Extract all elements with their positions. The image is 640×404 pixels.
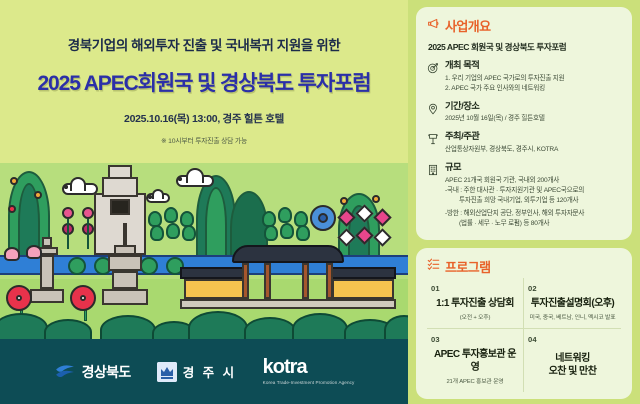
program-item-04: 04 네트워킹 오찬 및 만찬 (524, 329, 621, 392)
logo-gyeongsangbuk-do-text: 경상북도 (82, 362, 131, 382)
overview-card-header: 사업개요 (427, 16, 621, 35)
hanok-palace (180, 245, 396, 317)
purpose-line-2: 2. APEC 국가 주요 인사와의 네트워킹 (445, 84, 621, 94)
program-item-03-desc: 21개 APEC 홍보관 운영 (431, 376, 519, 385)
stone-pagoda-right-base (102, 289, 148, 305)
stone-pagoda-left-base (30, 289, 64, 303)
bush-1 (0, 313, 48, 339)
blue-chrysanthemum-center (318, 213, 328, 223)
lotus-flower-1 (4, 247, 20, 261)
stone-pagoda-right-top (114, 245, 136, 255)
program-item-01-title: 1:1 투자진출 상담회 (431, 298, 519, 311)
bush-6 (244, 317, 296, 339)
lotus-pad-1 (68, 257, 86, 275)
overview-row-host-body: 주최/주관 산업통상자원부, 경상북도, 경주시, KOTRA (445, 131, 621, 155)
logo-kotra-subtext: Korea Trade-Investment Promotion Agency (263, 380, 355, 387)
overview-row-period-lines: 2025년 10월 16일(목) / 경주 힐튼호텔 (445, 114, 621, 124)
logo-gyeongju-si-text: 경 주 시 (183, 362, 237, 381)
overview-row-scale-lines: APEC 21개국 회원국 기관, 국내외 200개사 -국내 : 주한 대사관… (445, 176, 621, 229)
hanok-right-wall (332, 279, 394, 299)
scale-line-1: APEC 21개국 회원국 기관, 국내외 200개사 (445, 176, 621, 186)
program-item-02-title: 투자진출설명회(오후) (528, 298, 617, 311)
banner-flag-icon (427, 131, 440, 155)
lotus-flower-2 (26, 245, 42, 259)
program-item-03: 03 APEC 투자홍보관 운영 21개 APEC 홍보관 운영 (427, 329, 524, 392)
program-item-01: 01 1:1 투자진출 상담회 (오전 + 오후) (427, 278, 524, 330)
hanok-right-roof (330, 267, 396, 279)
bush-7 (292, 313, 348, 339)
checklist-icon (427, 257, 440, 275)
pink-flower-1 (62, 207, 74, 219)
overview-title: 사업개요 (445, 16, 490, 35)
brick-pagoda-door (110, 199, 130, 215)
scale-line-5: (법률 · 세무 · 노무 로펌) 등 80개사 (445, 219, 621, 229)
hanok-pillar-1 (242, 263, 249, 299)
pink-flower-stem-2 (87, 219, 89, 249)
program-item-01-number: 01 (431, 284, 519, 293)
period-line-1: 2025년 10월 16일(목) / 경주 힐튼호텔 (445, 114, 621, 124)
stone-pagoda-right-mid (108, 255, 142, 271)
stone-pagoda-right-body (112, 271, 138, 289)
cloud-1 (62, 183, 98, 195)
program-item-04-title: 네트워킹 오찬 및 만찬 (528, 353, 617, 378)
stone-pagoda-right-spire (123, 223, 127, 245)
program-grid: 01 1:1 투자진출 상담회 (오전 + 오후) 02 투자진출설명회(오후)… (427, 278, 621, 393)
overview-row-host: 주최/주관 산업통상자원부, 경상북도, 경주시, KOTRA (427, 131, 621, 155)
program-item-01-desc: (오전 + 오후) (431, 312, 519, 321)
overview-row-purpose: 개최 목적 1. 우리 기업의 APEC 국가로의 투자진출 지원 2. APE… (427, 60, 621, 94)
overview-card: 사업개요 2025 APEC 회원국 및 경상북도 투자포럼 개최 목적 (416, 7, 632, 240)
scale-line-3: 투자진출 희망 국내기업, 외투기업 등 120개사 (445, 196, 621, 206)
hanok-stone-platform (180, 299, 396, 309)
hanok-left-wall (184, 279, 246, 299)
small-flower-5 (340, 197, 348, 205)
logo-gyeongju-si: 경 주 시 (157, 362, 237, 382)
poster-kicker: 경북기업의 해외투자 진출 및 국내복귀 지원을 위한 (0, 0, 408, 54)
bush-2 (44, 319, 92, 339)
poster-right-column: 사업개요 2025 APEC 회원국 및 경상북도 투자포럼 개최 목적 (408, 0, 640, 404)
brick-pagoda-mid (102, 177, 138, 197)
overview-row-period-label: 기간/장소 (445, 101, 621, 112)
small-flower-4 (372, 195, 380, 203)
small-flower-1 (10, 177, 18, 185)
target-icon (427, 60, 440, 94)
overview-row-scale-label: 규모 (445, 162, 621, 173)
cloud-2 (146, 193, 170, 203)
poster-root: 경북기업의 해외투자 진출 및 국내복귀 지원을 위한 2025 APEC회원국… (0, 0, 640, 404)
hanok-pillar-3 (302, 263, 309, 299)
hanok-main-roof (232, 245, 344, 263)
poster-left-column: 경북기업의 해외투자 진출 및 국내복귀 지원을 위한 2025 APEC회원국… (0, 0, 408, 404)
host-line-1: 산업통상자원부, 경상북도, 경주시, KOTRA (445, 145, 621, 155)
poster-note: ※ 10시부터 투자진출 상담 가능 (0, 135, 408, 145)
overview-row-host-lines: 산업통상자원부, 경상북도, 경주시, KOTRA (445, 145, 621, 155)
scale-line-4: -방한 : 해외산업단지 공단, 정부인사, 해외 투자자문사 (445, 209, 621, 219)
cloud-3 (176, 175, 214, 187)
overview-row-purpose-body: 개최 목적 1. 우리 기업의 APEC 국가로의 투자진출 지원 2. APE… (445, 60, 621, 94)
program-item-04-number: 04 (528, 335, 617, 344)
overview-row-purpose-lines: 1. 우리 기업의 APEC 국가로의 투자진출 지원 2. APEC 국가 주… (445, 74, 621, 94)
program-item-03-title: APEC 투자홍보관 운영 (431, 349, 519, 374)
brick-pagoda-top (108, 165, 132, 179)
lotus-pad-3 (140, 257, 158, 275)
stone-pagoda-left-body (40, 255, 54, 289)
peony-center-2 (80, 295, 86, 301)
overview-row-period-body: 기간/장소 2025년 10월 16일(목) / 경주 힐튼호텔 (445, 101, 621, 125)
overview-row-scale-body: 규모 APEC 21개국 회원국 기관, 국내외 200개사 -국내 : 주한 … (445, 162, 621, 229)
logo-gyeongsangbuk-do: 경상북도 (54, 362, 131, 382)
program-title: 프로그램 (445, 257, 490, 276)
stone-pagoda-left-top (42, 237, 52, 247)
logo-kotra: kotra Korea Trade-Investment Promotion A… (263, 357, 355, 387)
hanok-left-roof (180, 267, 248, 279)
small-flower-3 (8, 205, 16, 213)
small-flower-2 (34, 191, 42, 199)
poster-datetime-venue: 2025.10.16(목) 13:00, 경주 힐튼 호텔 (0, 111, 408, 126)
overview-subtitle: 2025 APEC 회원국 및 경상북도 투자포럼 (428, 41, 621, 53)
scale-line-2: -국내 : 주한 대사관 · 투자지원기관 및 APEC국으로의 (445, 186, 621, 196)
overview-row-period: 기간/장소 2025년 10월 16일(목) / 경주 힐튼호텔 (427, 101, 621, 125)
overview-row-host-label: 주최/주관 (445, 131, 621, 142)
pink-flower-3 (82, 207, 94, 219)
gb-wave-mark-icon (54, 364, 76, 380)
megaphone-icon (427, 17, 440, 35)
program-item-02-number: 02 (528, 284, 617, 293)
hanok-pillar-2 (264, 263, 271, 299)
gj-crown-mark-icon (157, 362, 177, 382)
poster-header: 경북기업의 해외투자 진출 및 국내복귀 지원을 위한 2025 APEC회원국… (0, 0, 408, 163)
bush-3 (100, 315, 156, 339)
logo-kotra-text: kotra (263, 357, 355, 377)
program-item-03-number: 03 (431, 335, 519, 344)
program-card: 프로그램 01 1:1 투자진출 상담회 (오전 + 오후) 02 투자진출설명… (416, 248, 632, 400)
overview-row-purpose-label: 개최 목적 (445, 60, 621, 71)
location-pin-icon (427, 101, 440, 125)
program-card-header: 프로그램 (427, 257, 621, 276)
gyeongju-landscape-illustration (0, 163, 408, 339)
poster-main-title: 2025 APEC회원국 및 경상북도 투자포럼 (0, 67, 408, 97)
sponsor-logo-bar: 경상북도 경 주 시 kotra Korea Trade-Investment … (0, 339, 408, 404)
program-item-02-desc: 미국, 중국, 베트남, 인니, 멕시코 발표 (528, 312, 617, 321)
overview-row-scale: 규모 APEC 21개국 회원국 기관, 국내외 200개사 -국내 : 주한 … (427, 162, 621, 229)
program-item-02: 02 투자진출설명회(오후) 미국, 중국, 베트남, 인니, 멕시코 발표 (524, 278, 621, 330)
peony-center-1 (16, 295, 22, 301)
building-grid-icon (427, 162, 440, 229)
pink-flower-stem-1 (67, 219, 69, 249)
purpose-line-1: 1. 우리 기업의 APEC 국가로의 투자진출 지원 (445, 74, 621, 84)
hanok-pillar-4 (326, 263, 333, 299)
bush-5 (188, 311, 248, 339)
